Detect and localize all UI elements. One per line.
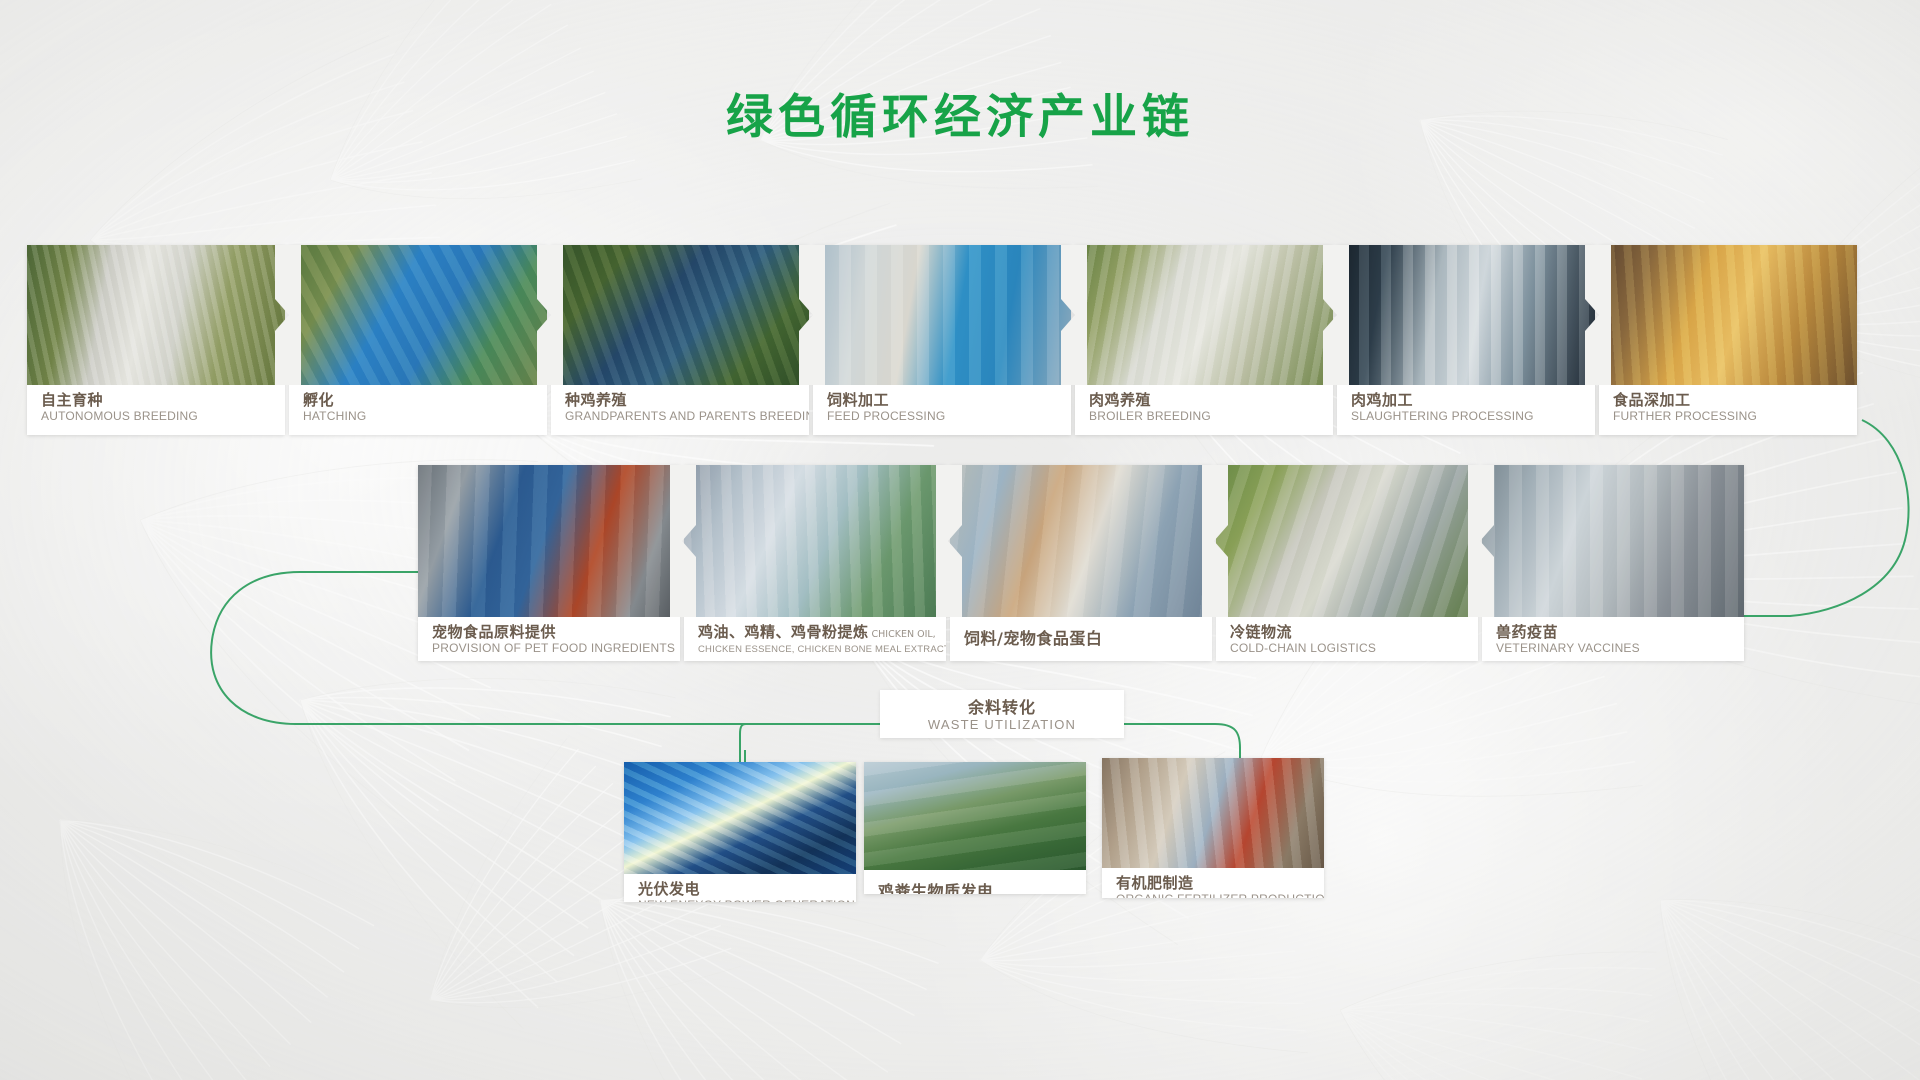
photo-texture [418, 465, 680, 617]
card-photo-slaughter-line-interior [1337, 245, 1595, 385]
chain-card-chicken-oil-essence-bone-meal[interactable]: 鸡油、鸡精、鸡骨粉提炼 CHICKEN OIL,CHICKEN ESSENCE,… [684, 465, 946, 661]
card-photo-feed-mill-silos [813, 245, 1071, 385]
card-caption: 自主育种AUTONOMOUS BREEDING [27, 385, 285, 435]
card-label-zh: 肉鸡加工 [1351, 391, 1595, 409]
card-label-zh: 宠物食品原料提供 [432, 623, 680, 641]
card-caption: 饲料加工FEED PROCESSING [813, 385, 1071, 435]
card-caption: 孵化HATCHING [289, 385, 547, 435]
card-label-en: COLD-CHAIN LOGISTICS [1230, 641, 1478, 655]
card-label-zh: 鸡粪生物质发电 [878, 876, 1086, 894]
card-label-en: BROILER BREEDING [1089, 409, 1333, 423]
card-caption: 有机肥制造ORGANIC FERTILIZER PRODUCTION [1102, 868, 1324, 898]
card-caption: 兽药疫苗VETERINARY VACCINES [1482, 617, 1744, 661]
waste-utilization-box: 余料转化 WASTE UTILIZATION [880, 690, 1124, 738]
card-photo-solar-panel-field [624, 762, 856, 874]
card-label-zh: 鸡油、鸡精、鸡骨粉提炼 CHICKEN OIL, [698, 623, 946, 644]
card-photo-fertilizer-warehouse [1102, 758, 1324, 868]
card-label-zh: 种鸡养殖 [565, 391, 809, 409]
card-photo-vaccine-plant-building [1482, 465, 1744, 617]
page-title: 绿色循环经济产业链 [0, 78, 1920, 147]
card-label-zh: 光伏发电 [638, 880, 856, 898]
photo-texture [1482, 465, 1744, 617]
photo-texture [27, 245, 285, 385]
card-label-en: GRANDPARENTS AND PARENTS BREEDING [565, 409, 809, 423]
photo-texture [1216, 465, 1478, 617]
card-photo-protein-factory-buildings [950, 465, 1212, 617]
card-caption: 肉鸡加工SLAUGHTERING PROCESSING [1337, 385, 1595, 435]
card-caption: 冷链物流COLD-CHAIN LOGISTICS [1216, 617, 1478, 661]
photo-texture [1599, 245, 1857, 385]
photo-texture [813, 245, 1071, 385]
photo-texture [624, 762, 856, 874]
card-label-zh: 兽药疫苗 [1496, 623, 1744, 641]
card-photo-aerial-valley-farm [551, 245, 809, 385]
chain-card-hatching[interactable]: 孵化HATCHING [289, 245, 547, 435]
chain-card-cold-chain-logistics[interactable]: 冷链物流COLD-CHAIN LOGISTICS [1216, 465, 1478, 661]
card-caption: 鸡油、鸡精、鸡骨粉提炼 CHICKEN OIL,CHICKEN ESSENCE,… [684, 617, 946, 661]
card-label-en: SLAUGHTERING PROCESSING [1351, 409, 1595, 423]
card-label-zh: 有机肥制造 [1116, 874, 1324, 892]
card-caption: 种鸡养殖GRANDPARENTS AND PARENTS BREEDING [551, 385, 809, 435]
card-photo-aerial-broiler-houses [1075, 245, 1333, 385]
card-label-en: CHICKEN ESSENCE, CHICKEN BONE MEAL EXTRA… [698, 644, 946, 655]
card-label-inline-en: CHICKEN OIL, [869, 629, 936, 640]
chain-card-organic-fertilizer-production[interactable]: 有机肥制造ORGANIC FERTILIZER PRODUCTION [1102, 758, 1324, 898]
card-caption: 光伏发电NEW ENEYGY POWER GENERATION [624, 874, 856, 902]
chain-card-grandparents-parents-breeding[interactable]: 种鸡养殖GRANDPARENTS AND PARENTS BREEDING [551, 245, 809, 435]
card-label-en: VETERINARY VACCINES [1496, 641, 1744, 655]
card-label-en: NEW ENEYGY POWER GENERATION [638, 898, 856, 902]
card-label-zh: 肉鸡养殖 [1089, 391, 1333, 409]
card-caption: 宠物食品原料提供PROVISION OF PET FOOD INGREDIENT… [418, 617, 680, 661]
card-photo-cold-chain-warehouse-aerial [1216, 465, 1478, 617]
chain-card-feed-pet-food-protein[interactable]: 饲料/宠物食品蛋白 [950, 465, 1212, 661]
chain-card-slaughtering-processing[interactable]: 肉鸡加工SLAUGHTERING PROCESSING [1337, 245, 1595, 435]
waste-utilization-label-en: WASTE UTILIZATION [880, 717, 1124, 733]
waste-utilization-label-zh: 余料转化 [880, 698, 1124, 717]
chain-card-chicken-manure-biomass-power[interactable]: 鸡粪生物质发电 [864, 762, 1086, 894]
photo-texture [864, 762, 1086, 870]
chain-card-autonomous-breeding[interactable]: 自主育种AUTONOMOUS BREEDING [27, 245, 285, 435]
card-label-en: FURTHER PROCESSING [1613, 409, 1857, 423]
card-photo-rendering-drum-plant [418, 465, 680, 617]
card-caption: 鸡粪生物质发电 [864, 870, 1086, 894]
card-label-en: ORGANIC FERTILIZER PRODUCTION [1116, 892, 1324, 898]
photo-texture [684, 465, 946, 617]
card-label-zh: 自主育种 [41, 391, 285, 409]
card-photo-aerial-blue-roof-hatchery [289, 245, 547, 385]
card-photo-extraction-plant-interior [684, 465, 946, 617]
photo-texture [1337, 245, 1595, 385]
photo-texture [1075, 245, 1333, 385]
card-label-zh: 食品深加工 [1613, 391, 1857, 409]
card-caption: 肉鸡养殖BROILER BREEDING [1075, 385, 1333, 435]
card-caption: 食品深加工FURTHER PROCESSING [1599, 385, 1857, 435]
card-photo-biomass-plant-mountains [864, 762, 1086, 870]
photo-texture [551, 245, 809, 385]
card-label-zh: 饲料/宠物食品蛋白 [964, 623, 1212, 648]
card-label-en: PROVISION OF PET FOOD INGREDIENTS [432, 641, 680, 655]
photo-texture [289, 245, 547, 385]
card-photo-fried-food-production-line [1599, 245, 1857, 385]
chain-card-pet-food-ingredients[interactable]: 宠物食品原料提供PROVISION OF PET FOOD INGREDIENT… [418, 465, 680, 661]
card-label-zh: 饲料加工 [827, 391, 1071, 409]
card-label-zh: 冷链物流 [1230, 623, 1478, 641]
card-label-en: AUTONOMOUS BREEDING [41, 409, 285, 423]
photo-texture [950, 465, 1212, 617]
chain-card-further-processing[interactable]: 食品深加工FURTHER PROCESSING [1599, 245, 1857, 435]
photo-texture [1102, 758, 1324, 868]
card-photo-aerial-breeding-sheds [27, 245, 285, 385]
card-caption: 饲料/宠物食品蛋白 [950, 617, 1212, 661]
card-label-zh: 孵化 [303, 391, 547, 409]
chain-card-new-energy-power-generation[interactable]: 光伏发电NEW ENEYGY POWER GENERATION [624, 762, 856, 902]
chain-card-broiler-breeding[interactable]: 肉鸡养殖BROILER BREEDING [1075, 245, 1333, 435]
chain-card-feed-processing[interactable]: 饲料加工FEED PROCESSING [813, 245, 1071, 435]
card-label-en: HATCHING [303, 409, 547, 423]
card-label-en: FEED PROCESSING [827, 409, 1071, 423]
chain-card-veterinary-vaccines[interactable]: 兽药疫苗VETERINARY VACCINES [1482, 465, 1744, 661]
